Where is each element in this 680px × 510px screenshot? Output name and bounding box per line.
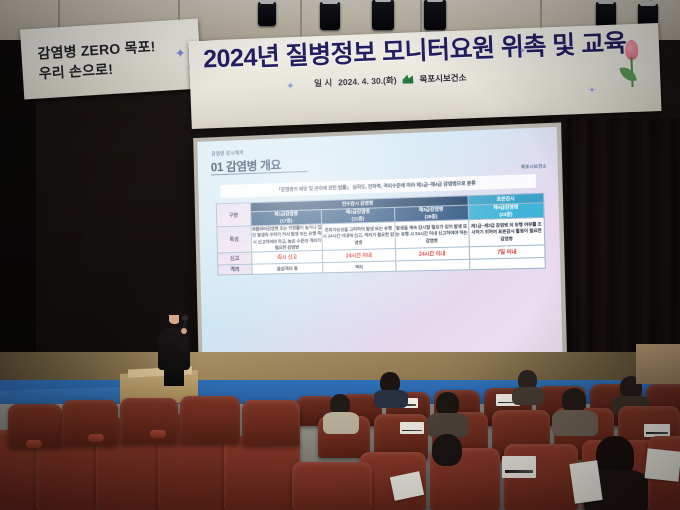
stage-light-icon — [424, 0, 446, 30]
stage-light-icon — [320, 2, 340, 30]
table-cell — [395, 259, 469, 271]
health-center-logo-icon — [402, 74, 413, 83]
table-cell: 음압격리 등 — [252, 263, 323, 275]
event-organization: 목포시보건소 — [419, 71, 466, 85]
row-label-characteristics: 특성 — [217, 226, 252, 253]
armrest — [88, 434, 104, 442]
seat-plate — [502, 456, 536, 478]
projected-slide: 감염병 감시체계 01 감염병 개요 목포시보건소 「감염병의 예방 및 관리에… — [197, 127, 563, 366]
row-label-isolation: 격리 — [218, 264, 252, 275]
slide-number: 01 — [211, 162, 224, 174]
armrest — [150, 430, 166, 438]
table-cell: 생물테러감염병 또는 치명률이 높거나 집단 발생의 우려가 커서 발생 또는 … — [251, 224, 323, 252]
seat-plate — [400, 422, 424, 434]
projection-screen: 감염병 감시체계 01 감염병 개요 목포시보건소 「감염병의 예방 및 관리에… — [193, 122, 567, 370]
handout-paper — [569, 460, 602, 504]
microphone-head-icon — [182, 315, 188, 321]
seat — [242, 400, 300, 446]
event-date-value: 2024. 4. 30.(화) — [338, 74, 397, 88]
seat — [120, 398, 178, 444]
table-cell: 제1급~제3급 감염병 외 유행 여부를 조사하기 위하여 표본감시 활동이 필… — [468, 218, 544, 247]
table-cell: 발생을 계속 감시할 필요가 있어 발생 또는 유행 시 24시간 이내 신고하… — [394, 220, 469, 249]
sparkle-icon: ✦ — [174, 45, 186, 62]
row-label-report: 신고 — [217, 252, 252, 265]
auditorium-scene: 감염병 ZERO 목포! 우리 손으로! ✦ ✦ 2024년 질병정보 모니터요… — [0, 0, 680, 510]
cardboard-box — [636, 344, 680, 384]
slide-eyebrow: 감염병 감시체계 — [211, 150, 243, 157]
sparkle-icon: ✦ — [286, 81, 295, 92]
infectious-disease-table: 구분 전수감시 감염병 표본감시 제1급감염병 (17종) 제2급감염병 (21… — [216, 193, 546, 276]
table-header-gubun: 구분 — [216, 203, 251, 227]
slide-brand: 목포시보건소 — [521, 163, 547, 170]
sparkle-icon: ✦ — [588, 85, 595, 94]
stage-light-icon — [372, 0, 394, 30]
handout-paper — [645, 448, 680, 481]
table-cell — [469, 258, 545, 270]
stage-light-icon — [258, 2, 276, 26]
table-cell: 전파가능성을 고려하여 발생 또는 유행 시 24시간 이내에 신고, 격리가 … — [322, 222, 395, 251]
seat — [224, 436, 300, 510]
event-date-label: 일 시 — [314, 76, 332, 89]
seat — [180, 396, 240, 444]
slogan-banner: 감염병 ZERO 목포! 우리 손으로! ✦ ✦ — [20, 18, 202, 99]
event-banner: 2024년 질병정보 모니터요원 위촉 및 교육 일 시 2024. 4. 30… — [188, 23, 661, 129]
table-cell: 격리 — [323, 261, 396, 273]
seat — [292, 462, 372, 510]
sparkle-icon: ✦ — [519, 46, 526, 55]
armrest — [26, 440, 42, 448]
presenter — [150, 302, 198, 384]
tulip-decoration-icon — [619, 40, 647, 91]
